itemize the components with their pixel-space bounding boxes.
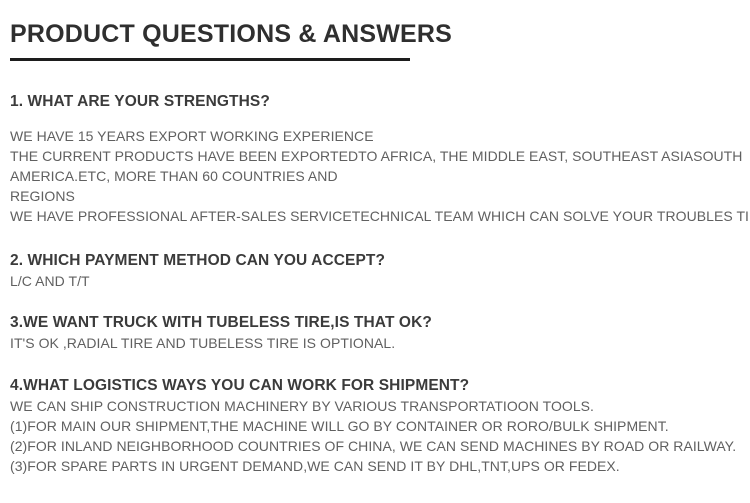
qa-question-1: 1. WHAT ARE YOUR STRENGTHS? [10,92,740,111]
qa-question-4: 4.WHAT LOGISTICS WAYS YOU CAN WORK FOR S… [10,376,740,395]
answer-line: THE CURRENT PRODUCTS HAVE BEEN EXPORTEDT… [10,147,740,167]
qa-question-2: 2. WHICH PAYMENT METHOD CAN YOU ACCEPT? [10,251,740,270]
qa-answer-1: WE HAVE 15 YEARS EXPORT WORKING EXPERIEN… [10,127,740,226]
answer-line: WE HAVE PROFESSIONAL AFTER-SALES SERVICE… [10,207,740,227]
qa-answer-2: L/C AND T/T [10,272,740,292]
page-title: PRODUCT QUESTIONS & ANSWERS [10,0,740,49]
answer-line: L/C AND T/T [10,272,740,292]
qa-list: 1. WHAT ARE YOUR STRENGTHS? WE HAVE 15 Y… [10,92,740,477]
qa-block-4: 4.WHAT LOGISTICS WAYS YOU CAN WORK FOR S… [10,376,740,477]
title-underline-rule [10,58,410,61]
answer-line: IT'S OK ,RADIAL TIRE AND TUBELESS TIRE I… [10,334,740,354]
answer-line: WE CAN SHIP CONSTRUCTION MACHINERY BY VA… [10,397,740,417]
answer-line: WE HAVE 15 YEARS EXPORT WORKING EXPERIEN… [10,127,740,147]
answer-line: (1)FOR MAIN OUR SHIPMENT,THE MACHINE WIL… [10,417,740,437]
qa-question-3: 3.WE WANT TRUCK WITH TUBELESS TIRE,IS TH… [10,313,740,332]
product-qa-page: PRODUCT QUESTIONS & ANSWERS 1. WHAT ARE … [0,0,750,503]
answer-line: AMERICA.ETC, MORE THAN 60 COUNTRIES AND [10,167,740,187]
qa-block-3: 3.WE WANT TRUCK WITH TUBELESS TIRE,IS TH… [10,313,740,354]
qa-answer-4: WE CAN SHIP CONSTRUCTION MACHINERY BY VA… [10,397,740,477]
answer-line: REGIONS [10,187,740,207]
answer-line: (3)FOR SPARE PARTS IN URGENT DEMAND,WE C… [10,457,740,477]
qa-answer-3: IT'S OK ,RADIAL TIRE AND TUBELESS TIRE I… [10,334,740,354]
qa-block-2: 2. WHICH PAYMENT METHOD CAN YOU ACCEPT? … [10,251,740,292]
qa-block-1: 1. WHAT ARE YOUR STRENGTHS? WE HAVE 15 Y… [10,92,740,227]
answer-line: (2)FOR INLAND NEIGHBORHOOD COUNTRIES OF … [10,437,740,457]
